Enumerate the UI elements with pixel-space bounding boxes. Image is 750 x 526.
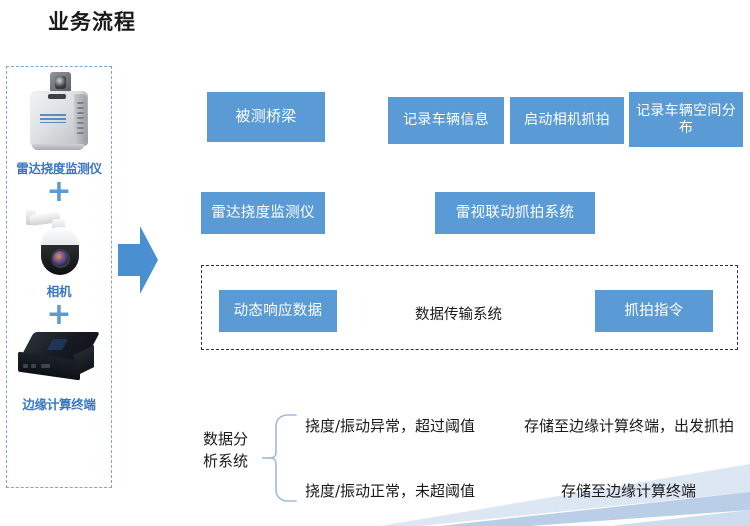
flow-box-radar-monitor[interactable]: 雷达挠度监测仪 bbox=[201, 192, 325, 234]
flow-box-record-vehicle-info[interactable]: 记录车辆信息 bbox=[388, 97, 504, 144]
flow-box-capture-command-label: 抓拍指令 bbox=[624, 303, 683, 320]
business-flow-diagram: 业务流程 雷达挠度监测仪 + bbox=[0, 0, 750, 526]
flow-box-start-camera-capture-label: 启动相机抓拍 bbox=[524, 112, 610, 128]
analysis-system-label-line1: 数据分 bbox=[203, 428, 263, 450]
flow-box-capture-command[interactable]: 抓拍指令 bbox=[595, 290, 713, 332]
analysis-system-label: 数据分 析系统 bbox=[203, 428, 263, 472]
edge-computing-terminal-icon bbox=[16, 330, 102, 392]
flow-box-record-vehicle-distribution[interactable]: 记录车辆空间分布 bbox=[629, 92, 743, 147]
flow-box-dynamic-response-data-label: 动态响应数据 bbox=[234, 303, 323, 320]
flow-box-record-vehicle-info-label: 记录车辆信息 bbox=[403, 112, 489, 128]
flow-box-radar-monitor-label: 雷达挠度监测仪 bbox=[211, 205, 315, 222]
branch-2-result: 存储至边缘计算终端 bbox=[561, 480, 696, 501]
device-label-edge: 边缘计算终端 bbox=[22, 394, 95, 413]
device-item-camera: 相机 bbox=[24, 207, 94, 300]
plus-icon-2: + bbox=[46, 302, 71, 328]
flow-box-start-camera-capture[interactable]: 启动相机抓拍 bbox=[510, 97, 624, 144]
analysis-brace-icon bbox=[262, 412, 302, 504]
analysis-system-label-line2: 析系统 bbox=[203, 450, 263, 472]
branch-2-condition: 挠度/振动正常，未超阈值 bbox=[305, 480, 475, 501]
ptz-camera-icon bbox=[24, 207, 94, 279]
flow-box-bridge[interactable]: 被测桥梁 bbox=[207, 92, 325, 142]
device-item-radar: 雷达挠度监测仪 bbox=[16, 72, 101, 177]
flow-box-radar-vision-capture-system[interactable]: 雷视联动抓拍系统 bbox=[435, 192, 595, 234]
flow-box-dynamic-response-data[interactable]: 动态响应数据 bbox=[219, 290, 337, 332]
branch-1-condition: 挠度/振动异常，超过阈值 bbox=[305, 415, 475, 436]
device-panel: 雷达挠度监测仪 + 相机 + bbox=[6, 66, 112, 488]
flow-box-radar-vision-capture-system-label: 雷视联动抓拍系统 bbox=[456, 205, 574, 222]
data-transmission-system-label: 数据传输系统 bbox=[415, 303, 502, 324]
device-item-edge: 边缘计算终端 bbox=[16, 330, 102, 413]
flow-box-record-vehicle-distribution-label: 记录车辆空间分布 bbox=[633, 103, 739, 135]
branch-1-result: 存储至边缘计算终端，出发抓拍 bbox=[524, 415, 734, 436]
flow-box-bridge-label: 被测桥梁 bbox=[235, 108, 296, 125]
page-title: 业务流程 bbox=[48, 6, 136, 36]
plus-icon-1: + bbox=[46, 179, 71, 205]
right-arrow-icon bbox=[118, 224, 158, 296]
radar-deflection-monitor-icon bbox=[20, 72, 98, 156]
